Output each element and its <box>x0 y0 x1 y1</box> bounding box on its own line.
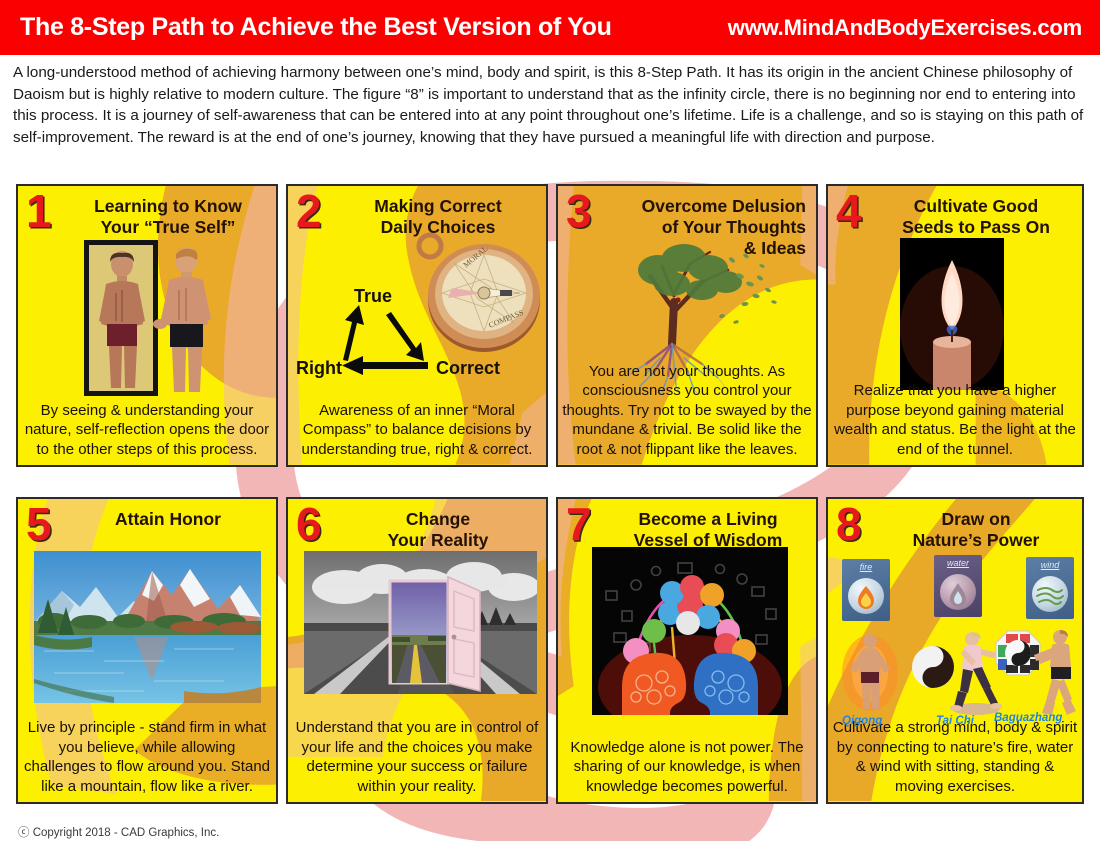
qigong-figure <box>840 627 900 711</box>
diagram-node-correct: Correct <box>436 358 500 379</box>
step-title-line-1: Attain Honor <box>70 509 266 530</box>
step-title-line-1: Change <box>340 509 536 530</box>
step-title-line-2: Your “True Self” <box>70 217 266 238</box>
step-card-7[interactable]: 7 Become a Living Vessel of Wisdom <box>556 497 818 804</box>
diagram-node-right: Right <box>296 358 342 379</box>
copyright-notice: ⓒ Copyright 2018 - CAD Graphics, Inc. <box>18 824 219 840</box>
man-facing-mirror-illustration <box>76 238 228 398</box>
practice-label-qigong: Qigong <box>842 715 882 727</box>
element-tile-wind: wind <box>1026 557 1074 619</box>
arrow-true-to-correct <box>386 312 424 361</box>
step-title: Making Correct Daily Choices <box>340 196 536 238</box>
step-title-line-1: Become a Living <box>610 509 806 530</box>
step-number: 7 <box>566 501 592 547</box>
step-number: 6 <box>296 501 322 547</box>
wind-orb-icon <box>1032 576 1068 612</box>
step-body: Knowledge alone is not power. The sharin… <box>562 738 812 797</box>
step-title-line-2: Vessel of Wisdom <box>610 530 806 551</box>
step-card-3[interactable]: 3 Overcome Delusion of Your Thoughts & I… <box>556 184 818 467</box>
step-number: 5 <box>26 501 52 547</box>
step-title: Cultivate Good Seeds to Pass On <box>880 196 1072 238</box>
two-heads-sharing-knowledge-illustration <box>592 547 788 715</box>
step-title: Change Your Reality <box>340 509 536 551</box>
step-body: Live by principle - stand firm in what y… <box>22 718 272 796</box>
step-title-line-1: Making Correct <box>340 196 536 217</box>
element-label-wind: wind <box>1026 560 1074 570</box>
step-body: By seeing & understanding your nature, s… <box>22 401 272 460</box>
water-orb-icon <box>940 574 976 610</box>
element-tile-water: water <box>934 555 982 617</box>
diagram-node-true: True <box>354 286 392 307</box>
step-title-line-1: Overcome Delusion <box>610 196 806 217</box>
infographic-page: The 8-Step Path to Achieve the Best Vers… <box>0 0 1100 841</box>
step-title: Attain Honor <box>70 509 266 530</box>
step-title: Become a Living Vessel of Wisdom <box>610 509 806 551</box>
step-title-line-2: of Your Thoughts <box>610 217 806 238</box>
element-label-water: water <box>934 558 982 568</box>
step-title-line-1: Draw on <box>880 509 1072 530</box>
step-card-1[interactable]: 1 Learning to Know Your “True Self” <box>16 184 278 467</box>
element-tile-fire: fire <box>842 559 890 621</box>
step-card-4[interactable]: 4 Cultivate Good Seeds to Pass On Realiz… <box>826 184 1084 467</box>
step-body: Realize that you have a higher purpose b… <box>832 381 1078 459</box>
step-body: Awareness of an inner “Moral Compass” to… <box>292 401 542 460</box>
step-body: You are not your thoughts. As consciousn… <box>562 362 812 460</box>
steps-grid: 1 Learning to Know Your “True Self” <box>0 0 1100 841</box>
open-door-on-road-illustration <box>304 551 537 694</box>
practice-label-baguazhang: Baguazhang <box>994 712 1062 724</box>
arrow-right-to-true <box>343 305 364 361</box>
arrow-correct-to-right <box>342 356 428 375</box>
mountain-and-river-illustration <box>34 551 261 703</box>
step-title: Learning to Know Your “True Self” <box>70 196 266 238</box>
step-body: Understand that you are in control of yo… <box>292 718 542 796</box>
step-card-6[interactable]: 6 Change Your Reality <box>286 497 548 804</box>
step-title: Overcome Delusion of Your Thoughts & Ide… <box>610 196 806 259</box>
baguazhang-figure <box>1030 625 1084 717</box>
step-number: 1 <box>26 188 52 234</box>
lit-candle-illustration <box>900 238 1004 390</box>
step-card-5[interactable]: 5 Attain Honor <box>16 497 278 804</box>
real-person-figure <box>153 247 211 392</box>
step-title-line-2: Daily Choices <box>340 217 536 238</box>
step-card-2[interactable]: 2 Making Correct Daily Choices <box>286 184 548 467</box>
step-title-line-1: Cultivate Good <box>880 196 1072 217</box>
step-title-line-2: Nature’s Power <box>880 530 1072 551</box>
step-title-line-2: Seeds to Pass On <box>880 217 1072 238</box>
element-label-fire: fire <box>842 562 890 572</box>
step-body: Cultivate a strong mind, body & spirit b… <box>832 718 1078 796</box>
step-number: 3 <box>566 188 592 234</box>
step-title-line-2: Your Reality <box>340 530 536 551</box>
step-number: 4 <box>836 188 862 234</box>
step-title-line-3: & Ideas <box>610 238 806 259</box>
step-card-8[interactable]: 8 Draw on Nature’s Power fire <box>826 497 1084 804</box>
step-number: 8 <box>836 501 862 547</box>
door-leaf <box>448 577 480 691</box>
fire-orb-icon <box>848 578 884 614</box>
practice-label-taichi: Tai Chi <box>936 715 974 727</box>
step-title-line-1: Learning to Know <box>70 196 266 217</box>
step-number: 2 <box>296 188 322 234</box>
step-title: Draw on Nature’s Power <box>880 509 1072 551</box>
